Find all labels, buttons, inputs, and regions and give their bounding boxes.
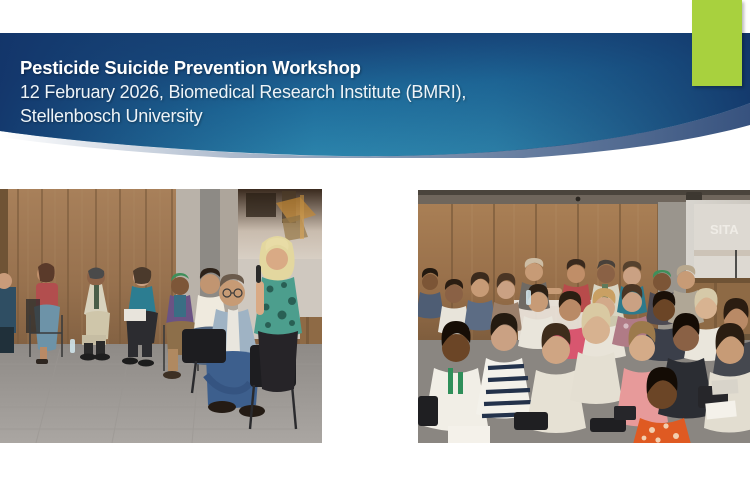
photo-audience-seminar-room-art: SITA bbox=[418, 190, 750, 443]
page-subtitle-line-2: Stellenbosch University bbox=[20, 104, 680, 128]
photo-audience-seminar-room: SITA bbox=[418, 190, 750, 443]
page-title: Pesticide Suicide Prevention Workshop bbox=[20, 55, 680, 80]
svg-text:SITA: SITA bbox=[710, 222, 739, 237]
photo-panel-discussion bbox=[0, 189, 322, 443]
presentation-slide: Pesticide Suicide Prevention Workshop 12… bbox=[0, 0, 750, 500]
green-accent-block bbox=[692, 0, 742, 86]
page-subtitle-line-1: 12 February 2026, Biomedical Research In… bbox=[20, 80, 680, 104]
photo-panel-discussion-art bbox=[0, 189, 322, 443]
banner-text-block: Pesticide Suicide Prevention Workshop 12… bbox=[20, 55, 680, 128]
